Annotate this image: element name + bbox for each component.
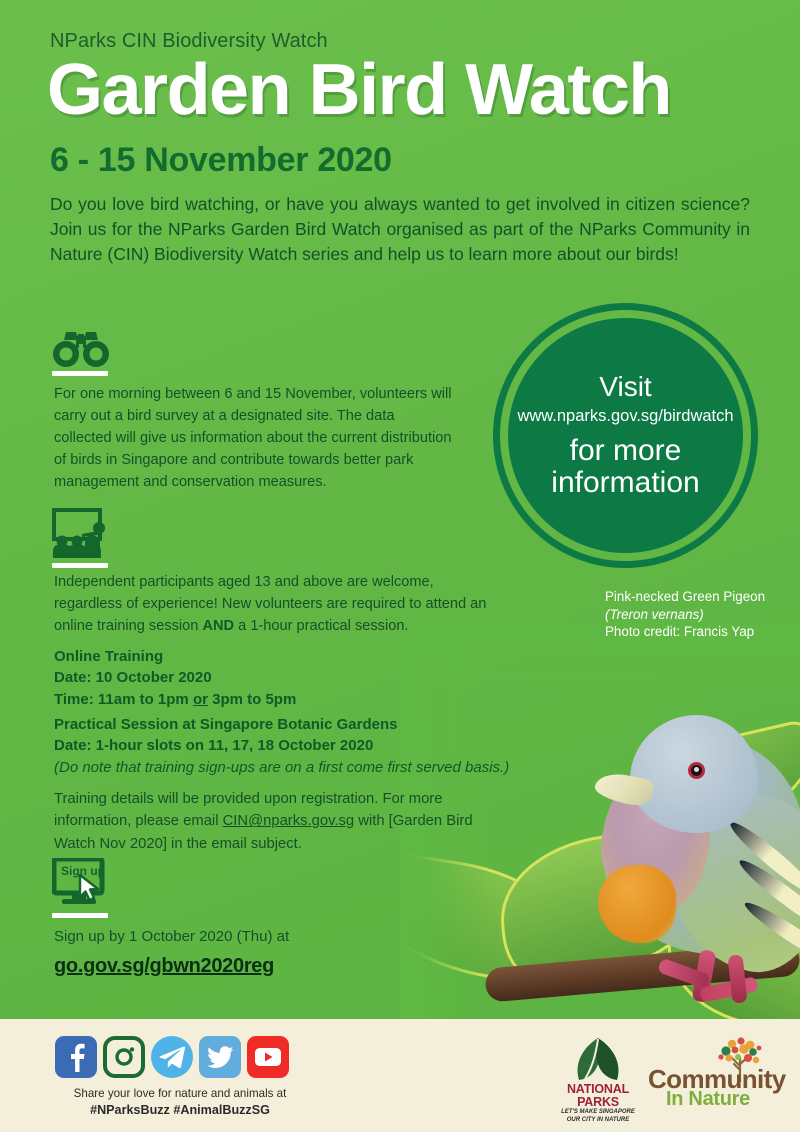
online-training-heading: Online Training <box>54 646 296 667</box>
community-in-nature-logo: Community In Nature <box>648 1040 788 1120</box>
photo-credit-line: Photo credit: Francis Yap <box>605 623 795 641</box>
hashtags: #NParksBuzz #AnimalBuzzSG <box>90 1103 270 1117</box>
visit-badge[interactable]: Visit www.nparks.gov.sg/birdwatch for mo… <box>508 318 743 553</box>
share-line: Share your love for nature and animals a… <box>55 1086 305 1102</box>
instagram-icon[interactable] <box>103 1036 145 1078</box>
twitter-icon[interactable] <box>199 1036 241 1078</box>
time-part-a: Time: 11am to 1pm <box>54 691 193 708</box>
bird-eye <box>688 762 705 779</box>
visit-line-a: for more <box>570 435 682 467</box>
email-link[interactable]: CIN@nparks.gov.sg <box>223 813 355 829</box>
practical-session-details: Practical Session at Singapore Botanic G… <box>54 714 509 778</box>
binoculars-icon <box>52 328 110 373</box>
page-title: Garden Bird Watch <box>47 54 671 126</box>
bird-scientific-name: (Treron vernans) <box>605 606 795 624</box>
bird-common-name: Pink-necked Green Pigeon <box>605 588 795 606</box>
online-training-time: Time: 11am to 1pm or 3pm to 5pm <box>54 689 296 710</box>
divider-rule <box>52 913 108 918</box>
national-parks-logo: NATIONAL PARKS LET'S MAKE SINGAPORE OUR … <box>552 1036 644 1124</box>
monitor-signup-icon[interactable]: Sign up <box>52 858 112 913</box>
time-part-b: 3pm to 5pm <box>208 691 296 708</box>
divider-rule <box>52 563 108 568</box>
np-name-line2: PARKS <box>552 1096 644 1109</box>
email-paragraph: Training details will be provided upon r… <box>54 788 484 855</box>
signup-info: Sign up by 1 October 2020 (Thu) at go.go… <box>54 926 454 981</box>
telegram-icon[interactable] <box>151 1036 193 1078</box>
training-intro-b: a 1-hour practical session. <box>234 618 408 634</box>
divider-rule <box>52 371 108 376</box>
signup-link[interactable]: go.gov.sg/gbwn2020reg <box>54 951 454 981</box>
signup-deadline-text: Sign up by 1 October 2020 (Thu) at <box>54 928 289 945</box>
training-intro: Independent participants aged 13 and abo… <box>54 572 494 638</box>
share-text: Share your love for nature and animals a… <box>55 1086 305 1119</box>
national-parks-name: NATIONAL PARKS <box>552 1083 644 1109</box>
youtube-icon[interactable] <box>247 1036 289 1078</box>
facebook-icon[interactable] <box>55 1036 97 1078</box>
practical-note: (Do note that training sign-ups are on a… <box>54 757 509 778</box>
national-parks-tagline: LET'S MAKE SINGAPORE OUR CITY IN NATURE <box>552 1109 644 1124</box>
classroom-icon <box>52 508 114 563</box>
np-tag-line2: OUR CITY IN NATURE <box>552 1117 644 1125</box>
intro-paragraph: Do you love bird watching, or have you a… <box>50 192 750 267</box>
cin-word-in-nature: In Nature <box>666 1088 786 1111</box>
practical-date: Date: 1-hour slots on 11, 17, 18 October… <box>54 735 509 756</box>
time-or: or <box>193 691 208 708</box>
photo-credit: Pink-necked Green Pigeon (Treron vernans… <box>605 588 795 641</box>
practical-heading: Practical Session at Singapore Botanic G… <box>54 714 509 735</box>
np-tag-line1: LET'S MAKE SINGAPORE <box>552 1109 644 1117</box>
training-intro-and: AND <box>202 618 234 634</box>
visit-url[interactable]: www.nparks.gov.sg/birdwatch <box>517 408 733 426</box>
signup-deadline: Sign up by 1 October 2020 (Thu) at go.go… <box>54 926 454 981</box>
online-training-details: Online Training Date: 10 October 2020 Ti… <box>54 646 296 710</box>
online-training-date: Date: 10 October 2020 <box>54 667 296 688</box>
event-dates: 6 - 15 November 2020 <box>50 141 392 180</box>
visit-line-b: information <box>551 467 699 499</box>
visit-label: Visit <box>599 372 651 402</box>
survey-description: For one morning between 6 and 15 Novembe… <box>54 384 454 493</box>
bird-orange-patch <box>598 865 676 943</box>
poster: NParks CIN Biodiversity Watch Garden Bir… <box>0 0 800 1132</box>
